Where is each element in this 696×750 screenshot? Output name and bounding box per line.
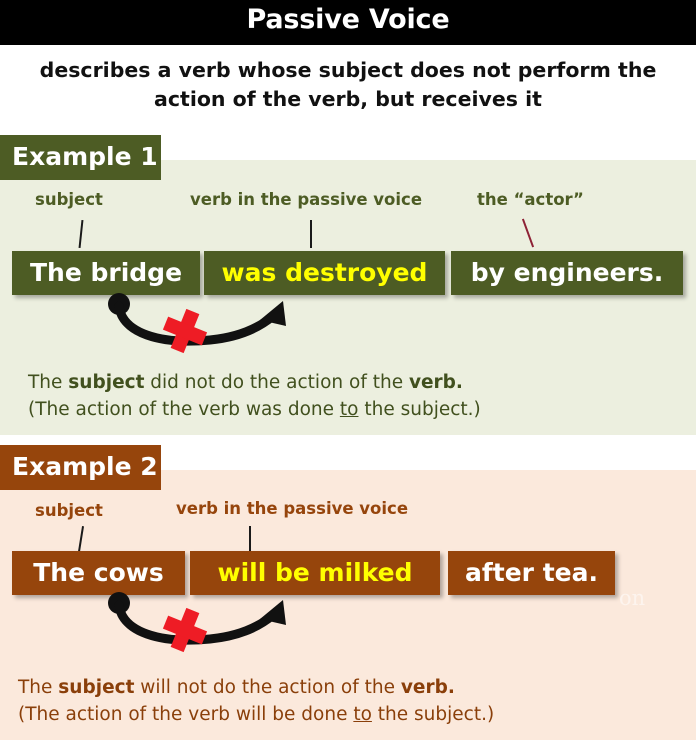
example-2-pointer-verb	[249, 526, 251, 552]
example-2-box-verb: will be milked	[190, 551, 440, 595]
example-1-callout-subject: subject	[35, 190, 103, 209]
example-2-box-subject: The cows	[12, 551, 185, 595]
example-1-explanation-line-2: (The action of the verb was done to the …	[28, 396, 481, 423]
example-2-callout-verb: verb in the passive voice	[176, 499, 408, 518]
cross-out-mark	[163, 608, 207, 652]
definition-text: describes a verb whose subject does not …	[28, 56, 668, 114]
example-2-callout-subject: subject	[35, 501, 103, 520]
example-1-label: Example 1	[0, 135, 161, 180]
example-2-label: Example 2	[0, 445, 161, 490]
definition-line-2: action of the verb, but receives it	[28, 85, 668, 114]
ex2-exp2-part2: the subject.)	[372, 704, 494, 725]
ex1-exp1-bold-subject: subject	[68, 372, 144, 393]
example-2-blocked-action-arrow	[100, 592, 300, 654]
ex2-exp2-part1: (The action of the verb will be done	[18, 704, 353, 725]
example-1-box-verb: was destroyed	[204, 251, 445, 295]
example-2-artifact-on: on	[619, 586, 645, 610]
infographic-page: Passive Voice describes a verb whose sub…	[0, 0, 696, 750]
example-2-explanation-line-1: The subject will not do the action of th…	[18, 674, 455, 701]
ex2-exp2-underline-to: to	[353, 704, 372, 725]
ex1-exp1-part1: The	[28, 372, 68, 393]
ex1-exp2-part2: the subject.)	[358, 399, 480, 420]
example-2-box-time: after tea.	[448, 551, 615, 595]
example-1-blocked-action-arrow	[100, 293, 300, 355]
ex2-exp1-bold-verb: verb.	[401, 677, 455, 698]
definition-line-1: describes a verb whose subject does not …	[28, 56, 668, 85]
example-1-box-actor: by engineers.	[451, 251, 683, 295]
example-2-explanation-line-2: (The action of the verb will be done to …	[18, 701, 494, 728]
ex1-exp1-part2: did not do the action of the	[144, 372, 409, 393]
example-1-callout-verb: verb in the passive voice	[190, 190, 422, 209]
ex1-exp2-underline-to: to	[340, 399, 359, 420]
cross-out-mark	[163, 309, 207, 353]
ex1-exp2-part1: (The action of the verb was done	[28, 399, 340, 420]
example-1-pointer-verb	[310, 220, 312, 248]
ex2-exp1-part1: The	[18, 677, 58, 698]
ex2-exp1-part2: will not do the action of the	[134, 677, 400, 698]
ex1-exp1-bold-verb: verb.	[409, 372, 463, 393]
ex2-exp1-bold-subject: subject	[58, 677, 134, 698]
example-1-box-subject: The bridge	[12, 251, 200, 295]
page-title: Passive Voice	[0, 4, 696, 35]
example-1-callout-actor: the “actor”	[477, 190, 584, 209]
example-1-explanation-line-1: The subject did not do the action of the…	[28, 369, 463, 396]
